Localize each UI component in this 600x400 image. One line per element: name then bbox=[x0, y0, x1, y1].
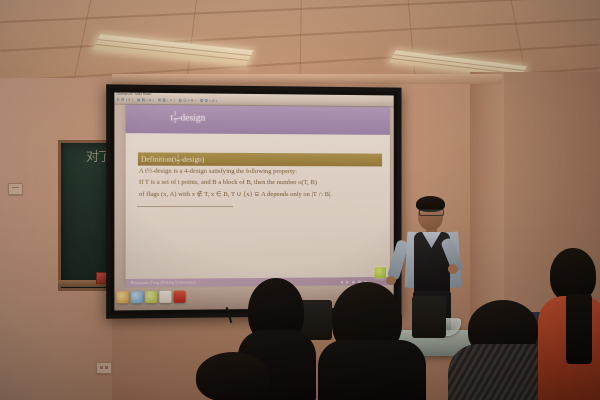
window-title: t12design.pdf - Adobe Reader bbox=[116, 93, 151, 96]
attendee-orange-jacket bbox=[536, 248, 600, 400]
slide-title-suffix: -design bbox=[177, 113, 205, 123]
start-orb-icon[interactable] bbox=[116, 291, 128, 303]
definition-line: If T is a set of t points, and B a block… bbox=[139, 179, 382, 187]
definition-line: of flags (x, A) with x ∉ T, x ∈ B, T ∪ {… bbox=[139, 191, 382, 199]
ceiling-trim bbox=[112, 74, 502, 84]
menu-bar[interactable]: 文件(F) 编辑(E) 视图(V) 窗口(W) 帮助(H) bbox=[116, 98, 218, 103]
folder-icon[interactable] bbox=[145, 291, 157, 303]
definition-line: A t½-design is a 4-design satisfying the… bbox=[139, 168, 382, 177]
slide-title: t12-design bbox=[170, 112, 205, 125]
divider bbox=[137, 206, 234, 207]
presenter-right-hand bbox=[448, 264, 458, 274]
tools-icon[interactable] bbox=[374, 267, 386, 278]
slide-title-bar bbox=[126, 105, 390, 135]
glasses-icon bbox=[419, 209, 444, 216]
taskbar-launcher bbox=[116, 291, 185, 304]
attendee-foreground bbox=[196, 352, 270, 400]
attendee-hair bbox=[196, 352, 270, 400]
light-switch[interactable] bbox=[8, 183, 23, 195]
definition-prefix: Definition( bbox=[141, 155, 174, 164]
beamer-slide: t12-design Definition(t12-design) A t½-d… bbox=[126, 105, 390, 288]
attendee-front-center bbox=[318, 282, 422, 400]
definition-header-text: Definition(t12-design) bbox=[141, 155, 204, 166]
definition-header-bar: Definition(t12-design) bbox=[138, 152, 382, 166]
attendee-hair-strand bbox=[566, 294, 592, 364]
document-icon[interactable] bbox=[159, 291, 171, 303]
attendee-torso bbox=[318, 340, 426, 400]
pdf-icon[interactable] bbox=[174, 291, 186, 303]
browser-icon[interactable] bbox=[131, 291, 143, 303]
author-affiliation: Rongquan Feng (Peking University) bbox=[131, 279, 196, 285]
classroom-photo: 对了 t12design.pdf - Adobe Reader 文件(F) 编辑… bbox=[0, 0, 600, 400]
definition-suffix: -design) bbox=[180, 155, 204, 164]
power-outlet[interactable] bbox=[96, 362, 112, 374]
definition-body: A t½-design is a 4-design satisfying the… bbox=[139, 168, 382, 203]
